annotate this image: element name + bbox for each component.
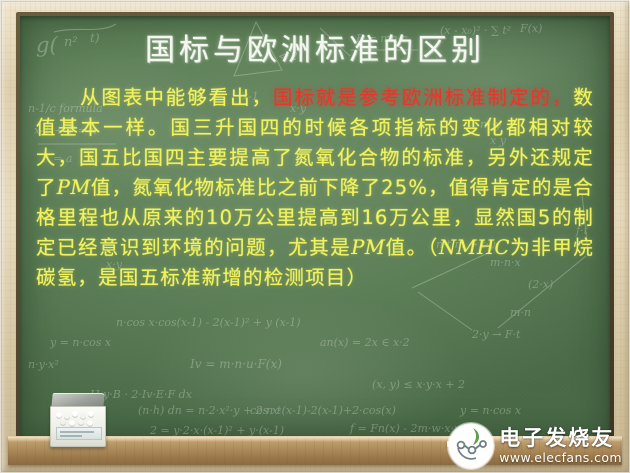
chalk-sticks-icon xyxy=(55,411,101,427)
watermark-text: 电子发烧友 www.elecfans.com xyxy=(499,428,622,465)
chalkboard-wrapper: g( n² t) n-1/c formula x-1 + T = x F = a… xyxy=(20,16,610,439)
elecfans-logo-icon xyxy=(448,423,494,469)
screenshot-root: g( n² t) n-1/c formula x-1 + T = x F = a… xyxy=(0,0,630,473)
chalk-box-label xyxy=(56,427,102,440)
watermark-brand: 电子发烧友 xyxy=(499,428,622,449)
text-segment-pm-1: PM xyxy=(57,176,91,199)
chalk-box-label-line xyxy=(60,431,94,433)
page-title: 国标与欧洲标准的区别 xyxy=(34,34,596,69)
board-content: 国标与欧洲标准的区别 从图表中能够看出，国标就是参考欧洲标准制定的，数值基本一样… xyxy=(20,16,610,293)
watermark-url: www.elecfans.com xyxy=(499,452,622,465)
text-segment-yellow-4: 值。（ xyxy=(385,236,439,259)
chalkboard: g( n² t) n-1/c formula x-1 + T = x F = a… xyxy=(20,16,610,439)
chalk-box-body xyxy=(50,406,106,447)
text-segment-yellow-1: 从图表中能够看出， xyxy=(80,86,273,109)
body-paragraph: 从图表中能够看出，国标就是参考欧洲标准制定的，数值基本一样。国三升国四的时候各项… xyxy=(36,83,594,293)
chalk-box-label-line xyxy=(60,435,82,437)
text-segment-nmhc: NMHC xyxy=(439,236,510,259)
watermark: 电子发烧友 www.elecfans.com xyxy=(448,423,622,469)
text-segment-pm-2: PM xyxy=(351,236,385,259)
chalk-box xyxy=(48,393,106,445)
text-segment-red: 国标就是参考欧洲标准制定的， xyxy=(273,86,573,109)
